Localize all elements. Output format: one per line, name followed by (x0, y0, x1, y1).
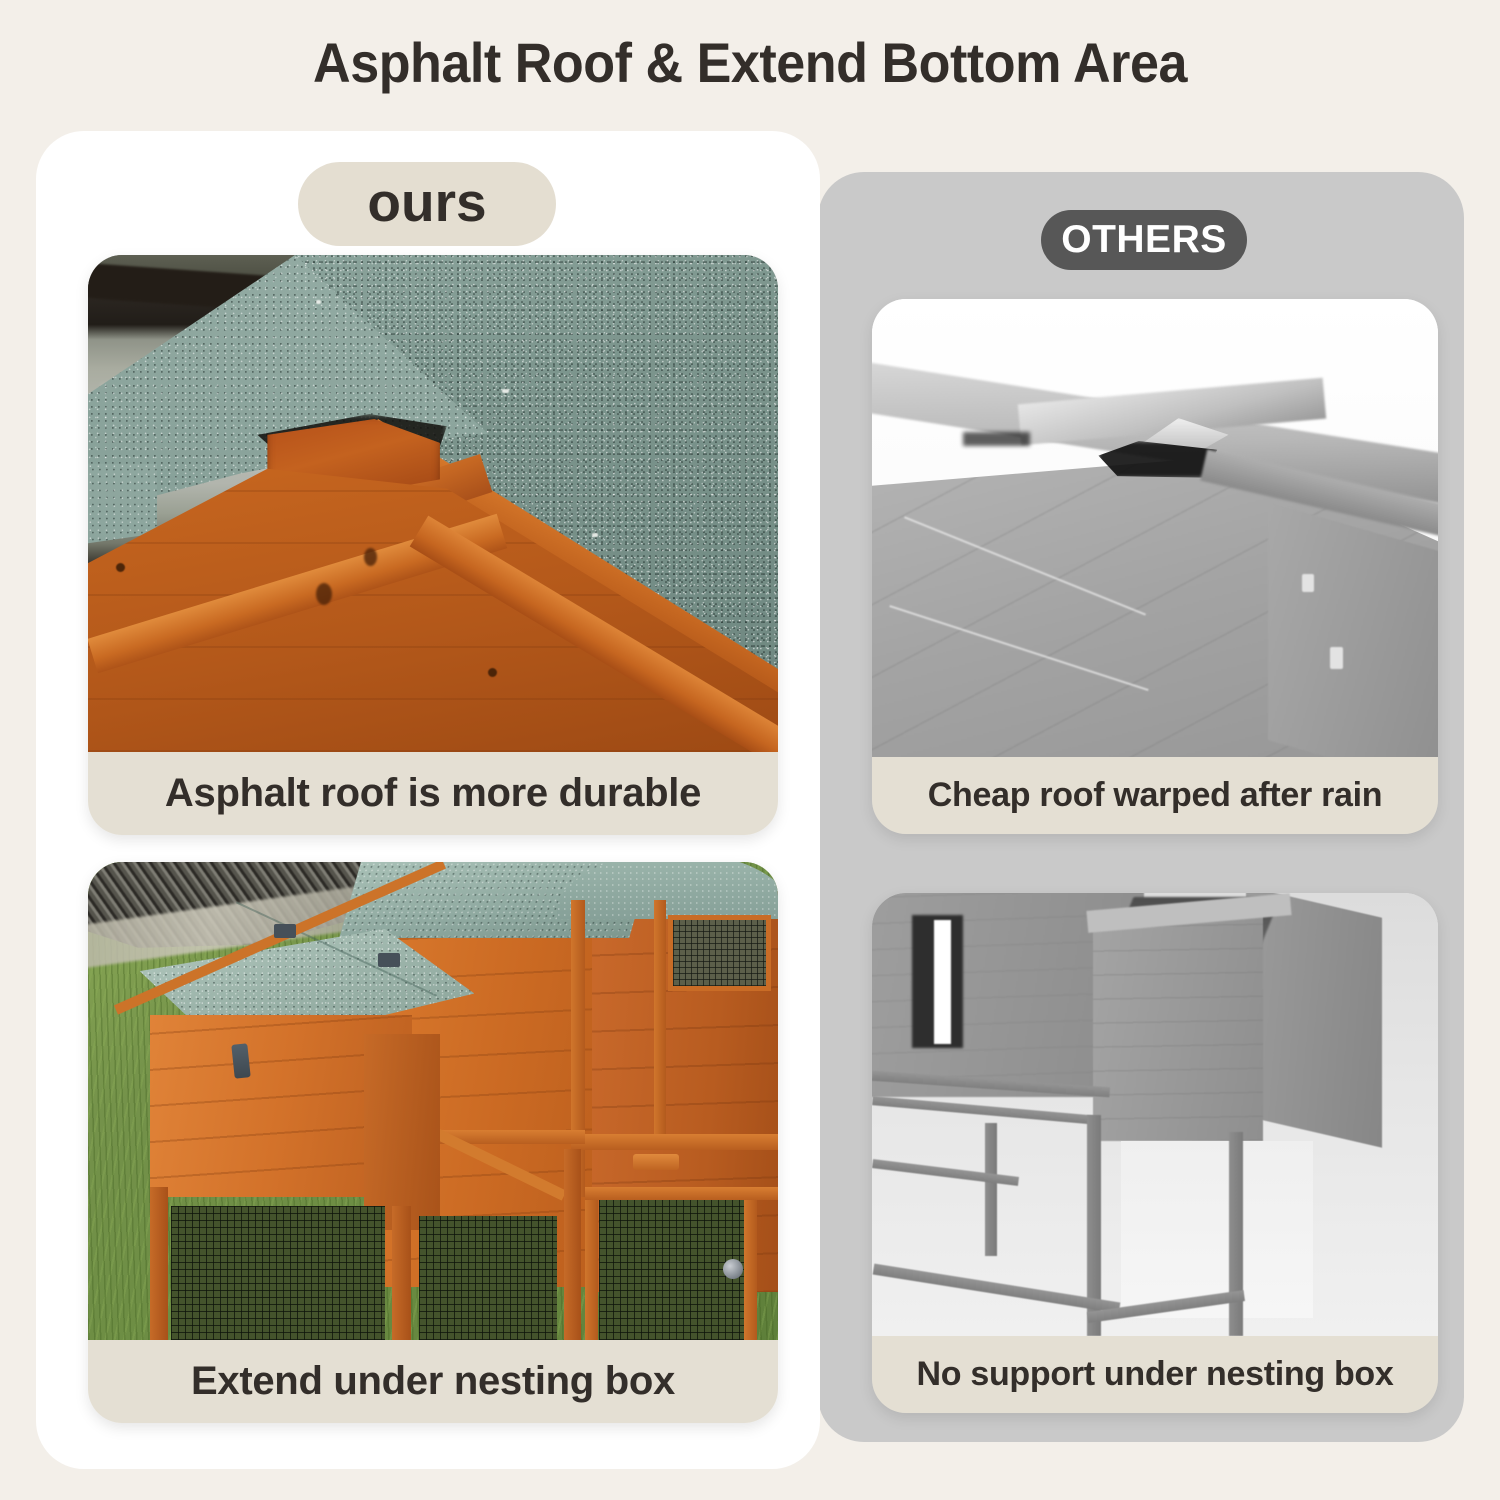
others-unsupported-nesting-box-caption: No support under nesting box (872, 1336, 1438, 1413)
ours-extend-nesting-box-caption: Extend under nesting box (88, 1340, 778, 1423)
ours-badge-label: ours (367, 175, 486, 230)
page-title: Asphalt Roof & Extend Bottom Area (53, 30, 1448, 95)
ours-extend-nesting-box-card: Extend under nesting box (88, 862, 778, 1423)
warped-cheap-roof-photo (872, 299, 1438, 757)
ours-badge: ours (298, 162, 556, 246)
others-warped-roof-card: Cheap roof warped after rain (872, 299, 1438, 834)
others-unsupported-nesting-box-card: No support under nesting box (872, 893, 1438, 1413)
unsupported-nesting-box-photo (872, 893, 1438, 1336)
coop-extended-nesting-box-photo (88, 862, 778, 1340)
others-badge: OTHERS (1041, 210, 1247, 270)
ours-asphalt-roof-card: Asphalt roof is more durable (88, 255, 778, 835)
asphalt-shingle-roof-ridge-photo (88, 255, 778, 752)
others-badge-label: OTHERS (1061, 220, 1227, 259)
ours-asphalt-roof-caption: Asphalt roof is more durable (88, 752, 778, 835)
others-warped-roof-caption: Cheap roof warped after rain (872, 757, 1438, 834)
